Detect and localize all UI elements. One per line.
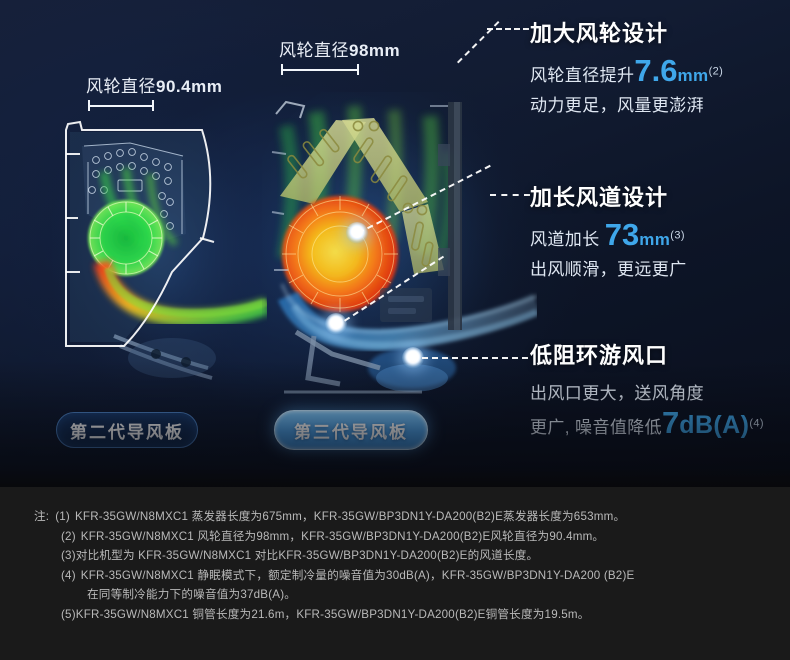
footnotes-section: 注: (1) KFR-35GW/N8MXC1 蒸发器长度为675mm，KFR-3… (0, 487, 790, 660)
annotation-3-title: 低阻环游风口 (530, 338, 790, 370)
annotation-3-value: 7 (662, 405, 679, 440)
annotation-3-line1: 出风口更大，送风角度 (530, 379, 790, 404)
connector-line-2-horizontal (490, 194, 530, 196)
ruler-cap-right (152, 100, 154, 111)
footnote-tag: (2) (61, 527, 81, 547)
connector-line-3-horizontal (422, 357, 528, 359)
footnote-tag: (3) (61, 546, 76, 566)
footnote-text: KFR-35GW/N8MXC1 蒸发器长度为675mm，KFR-35GW/BP3… (75, 507, 764, 527)
measurement-prefix-gen3: 风轮直径 (279, 41, 349, 60)
footnote-row: 注: (1) KFR-35GW/N8MXC1 蒸发器长度为675mm，KFR-3… (34, 507, 764, 527)
annotation-2-line1-prefix: 风道加长 (530, 230, 600, 249)
footnote-row: (3) 对比机型为 KFR-35GW/N8MXC1 对比KFR-35GW/BP3… (34, 546, 764, 566)
measurement-value-gen2: 90.4mm (156, 77, 222, 96)
annotation-block-2: 加长风道设计 风道加长 73mm(3) 出风顺滑，更远更广 (530, 180, 790, 280)
footnote-text: KFR-35GW/N8MXC1 静眠模式下，额定制冷量的噪音值为30dB(A)，… (81, 566, 764, 586)
measurement-prefix-gen2: 风轮直径 (86, 77, 156, 96)
footnote-text: 对比机型为 KFR-35GW/N8MXC1 对比KFR-35GW/BP3DN1Y… (76, 546, 764, 566)
cfd-diagram-gen3 (262, 92, 537, 412)
ruler-bar (88, 105, 154, 107)
promo-infographic: 风轮直径90.4mm 风轮直径98mm (0, 0, 790, 660)
annotation-2-superscript: (3) (670, 229, 685, 241)
measurement-label-gen3: 风轮直径98mm (279, 36, 400, 61)
footnote-text: KFR-35GW/N8MXC1 风轮直径为98mm，KFR-35GW/BP3DN… (81, 527, 764, 547)
annotation-1-unit: mm (678, 66, 709, 85)
footnote-text: 在同等制冷能力下的噪音值为37dB(A)。 (87, 585, 764, 605)
footnote-tag: (1) (55, 507, 75, 527)
annotation-block-3: 低阻环游风口 出风口更大，送风角度 更广, 噪音值降低7dB(A)(4) (530, 338, 790, 440)
annotation-1-line1-prefix: 风轮直径提升 (530, 66, 634, 85)
annotation-block-1: 加大风轮设计 风轮直径提升7.6mm(2) 动力更足，风量更澎湃 (530, 16, 790, 116)
footnote-text: KFR-35GW/N8MXC1 铜管长度为21.6m，KFR-35GW/BP3D… (76, 605, 764, 625)
measurement-label-gen2: 风轮直径90.4mm (86, 72, 222, 97)
callout-dot-fan[interactable] (346, 222, 368, 244)
footnote-lead: 注: (34, 507, 55, 527)
hero-illustration-area: 风轮直径90.4mm 风轮直径98mm (0, 0, 790, 487)
measurement-value-gen3: 98mm (349, 41, 400, 60)
connector-line-1-horizontal (487, 28, 529, 30)
badge-gen3[interactable]: 第三代导风板 (274, 410, 428, 450)
annotation-1-line2: 动力更足，风量更澎湃 (530, 91, 790, 116)
annotation-2-line2: 出风顺滑，更远更广 (530, 255, 790, 280)
badge-gen2[interactable]: 第二代导风板 (56, 412, 198, 448)
footnote-row: (5) KFR-35GW/N8MXC1 铜管长度为21.6m，KFR-35GW/… (34, 605, 764, 625)
annotation-2-line1: 风道加长 73mm(3) (530, 221, 790, 250)
annotation-2-value: 73 (605, 217, 639, 252)
badge-gen3-label: 第三代导风板 (294, 418, 408, 443)
badge-gen2-label: 第二代导风板 (70, 418, 184, 443)
callout-dot-airduct[interactable] (325, 313, 347, 335)
annotation-3-unit: dB(A) (679, 411, 749, 439)
footnote-tag: (5) (61, 605, 76, 625)
annotation-1-line1: 风轮直径提升7.6mm(2) (530, 57, 790, 86)
annotation-1-value: 7.6 (634, 53, 677, 88)
annotation-2-title: 加长风道设计 (530, 180, 790, 212)
annotation-3-line2: 更广, 噪音值降低7dB(A)(4) (530, 409, 790, 440)
annotation-1-title: 加大风轮设计 (530, 16, 790, 48)
callout-dot-core (331, 319, 341, 329)
ruler-cap-right (357, 64, 359, 75)
footnote-tag: (4) (61, 566, 81, 586)
callout-dot-outlet[interactable] (402, 347, 424, 369)
measurement-ruler-gen2 (88, 100, 154, 111)
annotation-3-line2-prefix: 更广, 噪音值降低 (530, 418, 662, 437)
measurement-ruler-gen3 (281, 64, 359, 75)
footnote-row: (2) KFR-35GW/N8MXC1 风轮直径为98mm，KFR-35GW/B… (34, 527, 764, 547)
annotation-1-superscript: (2) (709, 65, 724, 77)
ruler-bar (281, 69, 359, 71)
annotation-2-unit: mm (639, 230, 670, 249)
footnote-row: (4) KFR-35GW/N8MXC1 静眠模式下，额定制冷量的噪音值为30dB… (34, 566, 764, 586)
callout-dot-core (408, 353, 418, 363)
footnote-row-continuation: 在同等制冷能力下的噪音值为37dB(A)。 (34, 585, 764, 605)
cfd-diagram-gen2 (52, 110, 267, 400)
annotation-3-superscript: (4) (749, 417, 764, 429)
